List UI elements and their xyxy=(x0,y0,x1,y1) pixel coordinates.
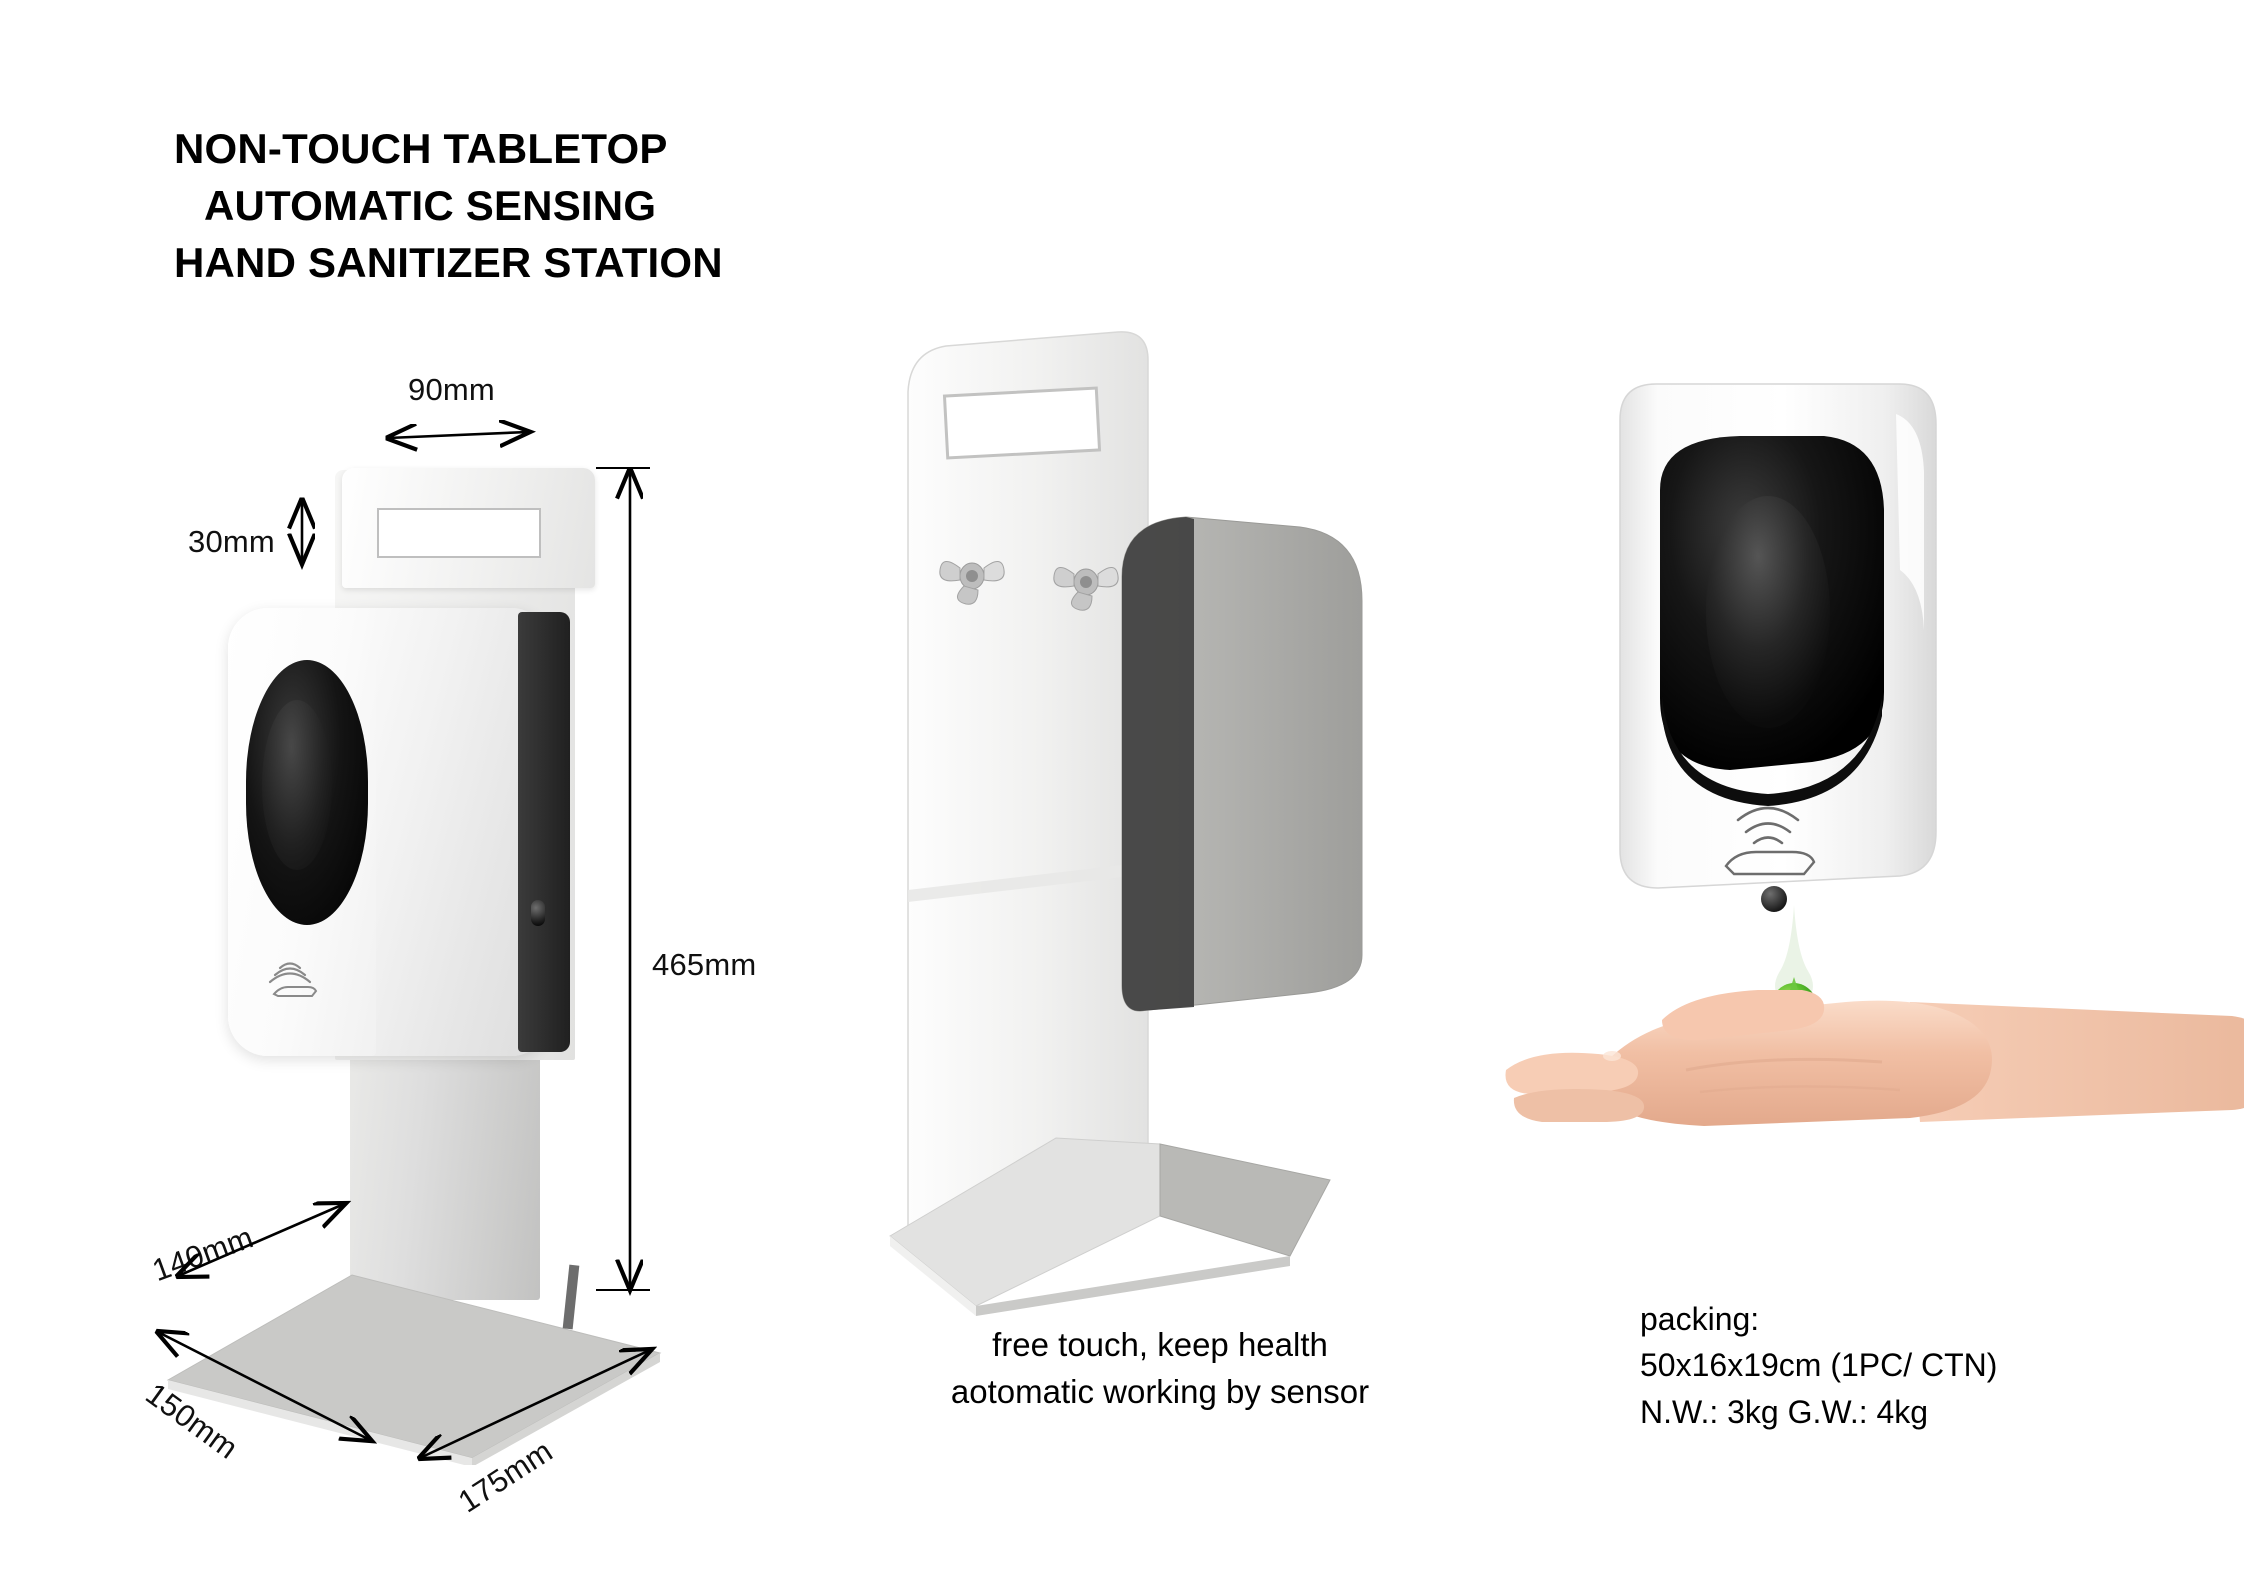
packing-info: packing: 50x16x19cm (1PC/ CTN) N.W.: 3kg… xyxy=(1640,1296,1997,1435)
figure-dispenser-with-hand xyxy=(1600,380,2220,1140)
product-spec-sheet: NON-TOUCH TABLETOP AUTOMATIC SENSING HAN… xyxy=(0,0,2244,1587)
open-hand xyxy=(1490,950,2244,1180)
wing-nut-left xyxy=(936,546,1008,608)
dispenser-body-rear xyxy=(1112,515,1412,1075)
middle-caption-line-1: free touch, keep health xyxy=(900,1322,1420,1369)
packing-heading: packing: xyxy=(1640,1296,1997,1342)
packing-weights: N.W.: 3kg G.W.: 4kg xyxy=(1640,1389,1997,1435)
figure-dimensioned-stand xyxy=(0,0,760,1500)
dim-label-slot-height: 30mm xyxy=(188,524,275,560)
dispenser-window-reflection xyxy=(262,700,332,870)
dim-label-width-top: 90mm xyxy=(408,372,495,408)
packing-carton: 50x16x19cm (1PC/ CTN) xyxy=(1640,1342,1997,1388)
dispenser-dark-spine xyxy=(518,612,570,1052)
dispenser-side-port xyxy=(531,900,545,926)
middle-caption-line-2: aotomatic working by sensor xyxy=(900,1369,1420,1416)
dim-label-overall-height: 465mm xyxy=(652,947,756,983)
sensor-icon xyxy=(258,950,348,1000)
figure-stand-rear-view xyxy=(880,330,1480,1310)
stand-base-plate-rear xyxy=(860,1020,1440,1320)
middle-caption: free touch, keep health aotomatic workin… xyxy=(900,1322,1420,1416)
bracket-slot-cutout xyxy=(377,508,541,558)
dispenser-unit-front xyxy=(1600,380,2000,900)
